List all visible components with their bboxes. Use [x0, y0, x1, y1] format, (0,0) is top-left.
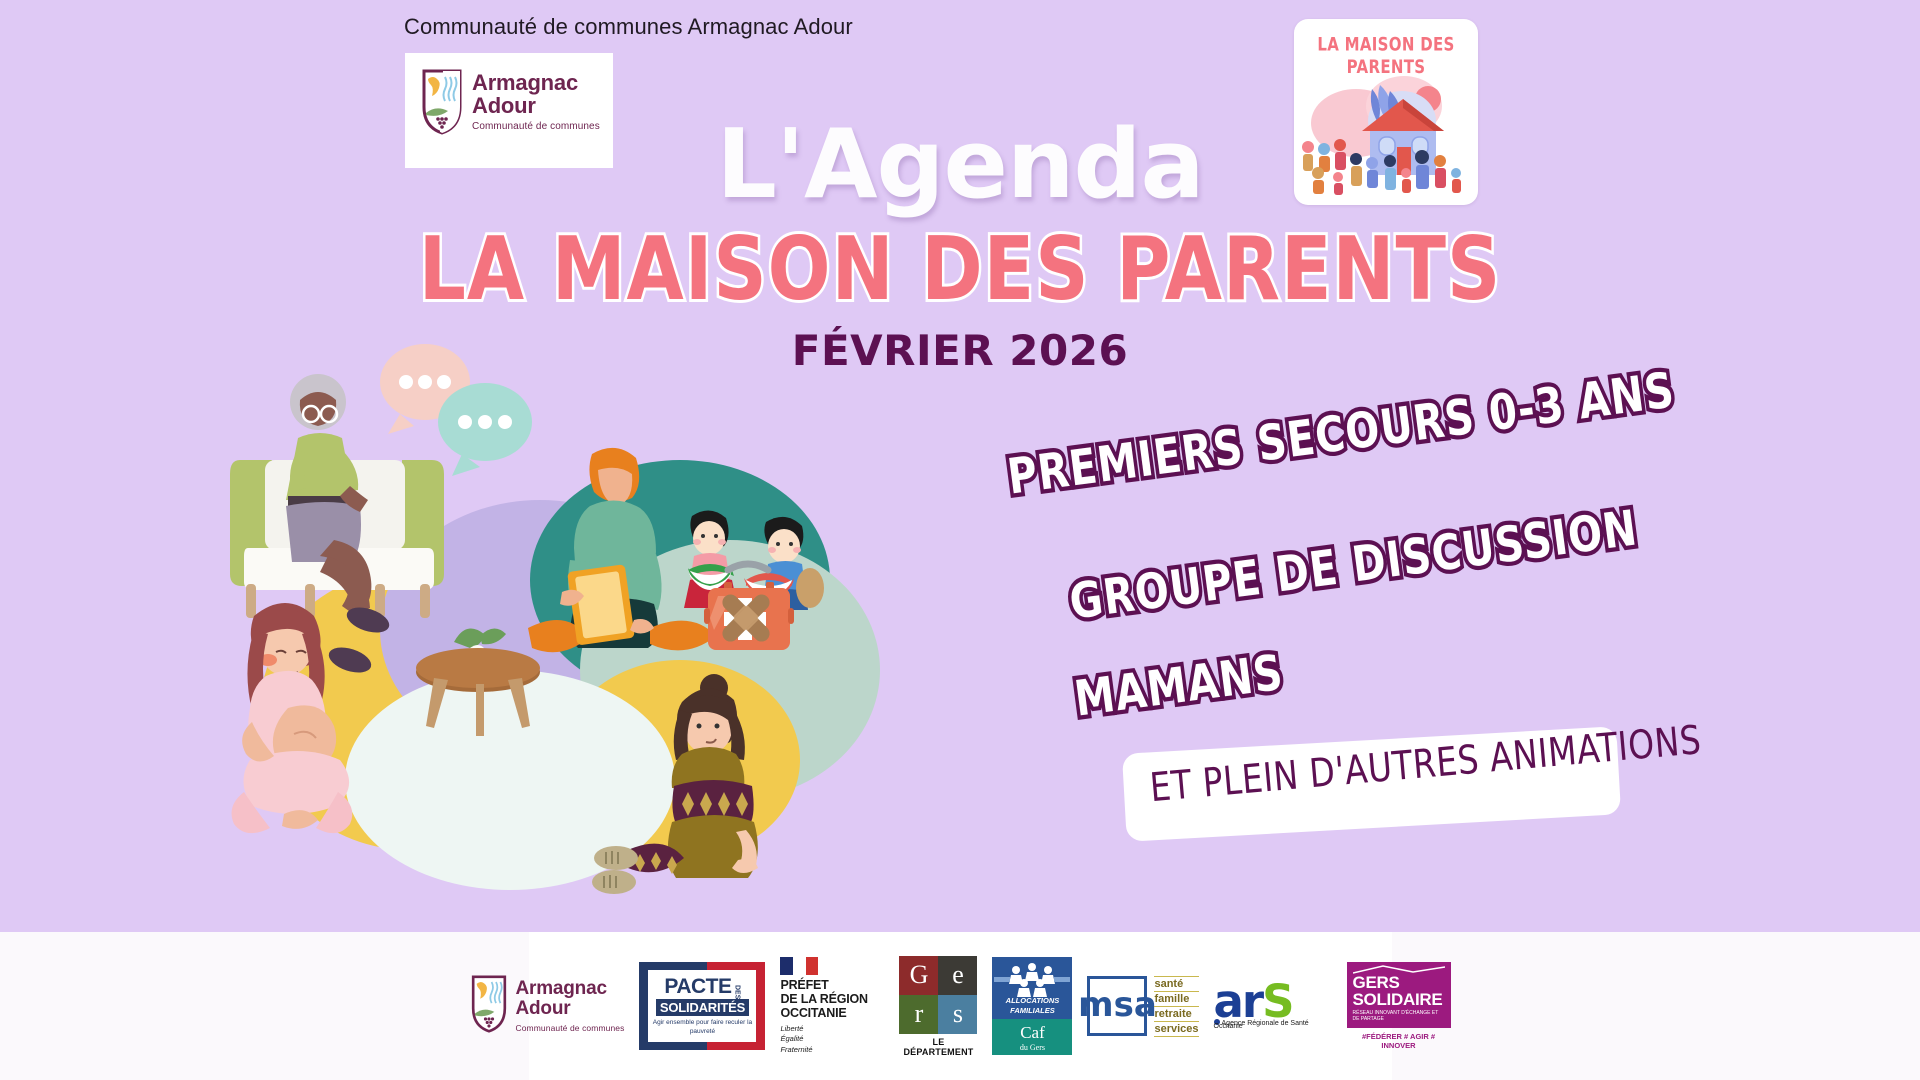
- gers-solidaire-tagline: #FÉDÉRER # AGIR # INNOVER: [1347, 1032, 1451, 1050]
- prefet-motto1: Liberté: [780, 1024, 884, 1035]
- prefet-motto2: Égalité: [780, 1034, 884, 1045]
- gers-letter-3: r: [915, 999, 924, 1029]
- footer-logo-armagnac-adour: Armagnac Adour Communauté de communes: [470, 975, 624, 1038]
- footer-logo-pacte-solidarites: PACTE DES SOLIDARITÉS Agir ensemble pour…: [639, 962, 765, 1050]
- prefet-line1: PRÉFET: [780, 978, 884, 992]
- poster-page: Communauté de communes Armagnac Adour: [0, 0, 1920, 1080]
- gers-solidaire-line2: SOLIDAIRE: [1353, 991, 1445, 1008]
- highlight-label-2: GROUPE DE DISCUSSION: [1066, 501, 1640, 631]
- footer-armagnac-line2: Adour: [515, 999, 624, 1019]
- french-flag-icon: [780, 957, 818, 975]
- page-title-organisation: LA MAISON DES PARENTS: [0, 219, 1920, 320]
- caf-line1: ALLOCATIONS: [992, 996, 1072, 1005]
- armagnac-adour-name-line1: Armagnac: [472, 72, 600, 95]
- footer-logo-caf-du-gers: ALLOCATIONS FAMILIALES Caf du Gers: [992, 957, 1072, 1055]
- pacte-tagline: Agir ensemble pour faire reculer la pauv…: [648, 1019, 756, 1037]
- prefet-line3: OCCITANIE: [780, 1006, 884, 1020]
- gers-caption: LE DÉPARTEMENT: [899, 1037, 977, 1057]
- footer-armagnac-line1: Armagnac: [515, 979, 624, 999]
- caf-line2: FAMILIALES: [992, 1006, 1072, 1015]
- footer-logo-msa: msa santé famille retraite services: [1087, 976, 1198, 1037]
- footer-armagnac-tagline: Communauté de communes: [515, 1023, 624, 1033]
- poster-purple-band: Communauté de communes Armagnac Adour: [0, 0, 1920, 932]
- highlight-label-1: PREMIERS SECOURS 0-3 ANS: [1004, 362, 1678, 505]
- footer-partners-strip: Armagnac Adour Communauté de communes PA…: [529, 932, 1392, 1080]
- gers-letter-1: G: [910, 960, 929, 990]
- msa-mark: msa: [1087, 976, 1147, 1036]
- footer-logo-prefet-occitanie: PRÉFET DE LA RÉGION OCCITANIE Liberté Ég…: [780, 957, 884, 1056]
- pacte-line1: PACTE: [664, 975, 731, 999]
- highlight-label-3: MAMANS: [1071, 645, 1286, 728]
- msa-mark-text: msa: [1078, 992, 1157, 1019]
- gers-solidaire-line1: GERS: [1353, 974, 1445, 991]
- pacte-line2: DES: [734, 985, 741, 999]
- prefet-line2: DE LA RÉGION: [780, 992, 884, 1006]
- msa-word-2: famille: [1154, 991, 1198, 1006]
- gers-letter-4: s: [953, 999, 963, 1029]
- msa-word-4: services: [1154, 1021, 1198, 1037]
- caf-line4: du Gers: [1020, 1043, 1045, 1052]
- pacte-line3: SOLIDARITÉS: [656, 999, 749, 1016]
- msa-word-1: santé: [1154, 976, 1198, 991]
- community-caption: Communauté de communes Armagnac Adour: [404, 14, 853, 40]
- gers-letter-2: e: [952, 960, 964, 990]
- caf-line3: Caf: [1020, 1023, 1045, 1043]
- parents-group-illustration: [210, 330, 900, 930]
- footer-logo-ars-occitanie: arS Agence Régionale de Santé Occitanie: [1214, 982, 1332, 1030]
- footer-logo-gers-solidaire: GERS SOLIDAIRE RÉSEAU INNOVANT D'ÉCHANGE…: [1347, 962, 1451, 1050]
- armagnac-adour-shield-icon: [470, 975, 508, 1038]
- page-title-agenda: L'Agenda: [0, 110, 1920, 220]
- prefet-motto3: Fraternité: [780, 1045, 884, 1056]
- caf-people-icon: [992, 961, 1072, 1001]
- footer-logo-gers-departement: G e r s LE DÉPARTEMENT: [899, 956, 977, 1057]
- msa-word-3: retraite: [1154, 1006, 1198, 1021]
- gers-solidaire-line3: RÉSEAU INNOVANT D'ÉCHANGE ET DE PARTAGE: [1353, 1010, 1445, 1022]
- gers-solidaire-roof-icon: [1353, 965, 1445, 975]
